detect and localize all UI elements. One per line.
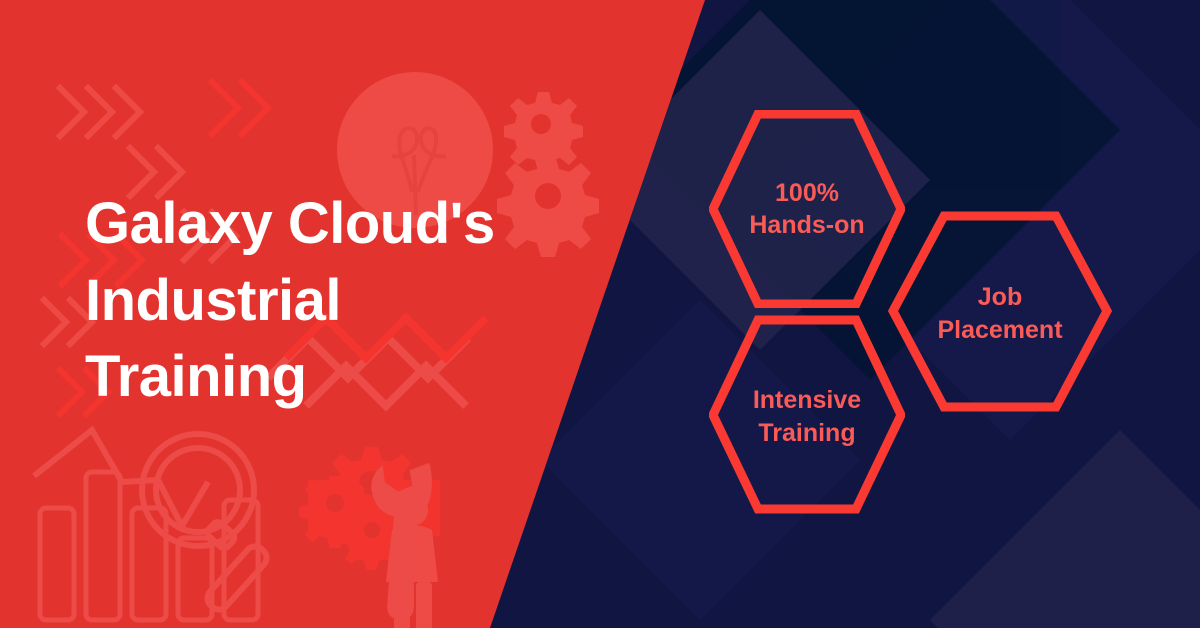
circle-accent: [312, 412, 348, 448]
hexagon-outline-icon: [709, 110, 905, 308]
chevron-arrows-icon: [60, 88, 140, 136]
chevron-arrows-icon: [212, 82, 268, 134]
diamond-shape: [930, 430, 1200, 628]
hexagon-card-hands-on[interactable]: 100% Hands-on: [709, 110, 905, 308]
hexagon-outline-icon: [709, 315, 905, 514]
magnifier-icon: [142, 434, 271, 614]
promo-banner: Galaxy Cloud's Industrial Training 100% …: [0, 0, 1200, 628]
hexagon-card-intensive-training[interactable]: Intensive Training: [709, 315, 905, 514]
hexagon-card-job-placement[interactable]: Job Placement: [888, 211, 1112, 412]
hexagon-outline-icon: [888, 211, 1112, 412]
page-title: Galaxy Cloud's Industrial Training: [85, 186, 605, 416]
